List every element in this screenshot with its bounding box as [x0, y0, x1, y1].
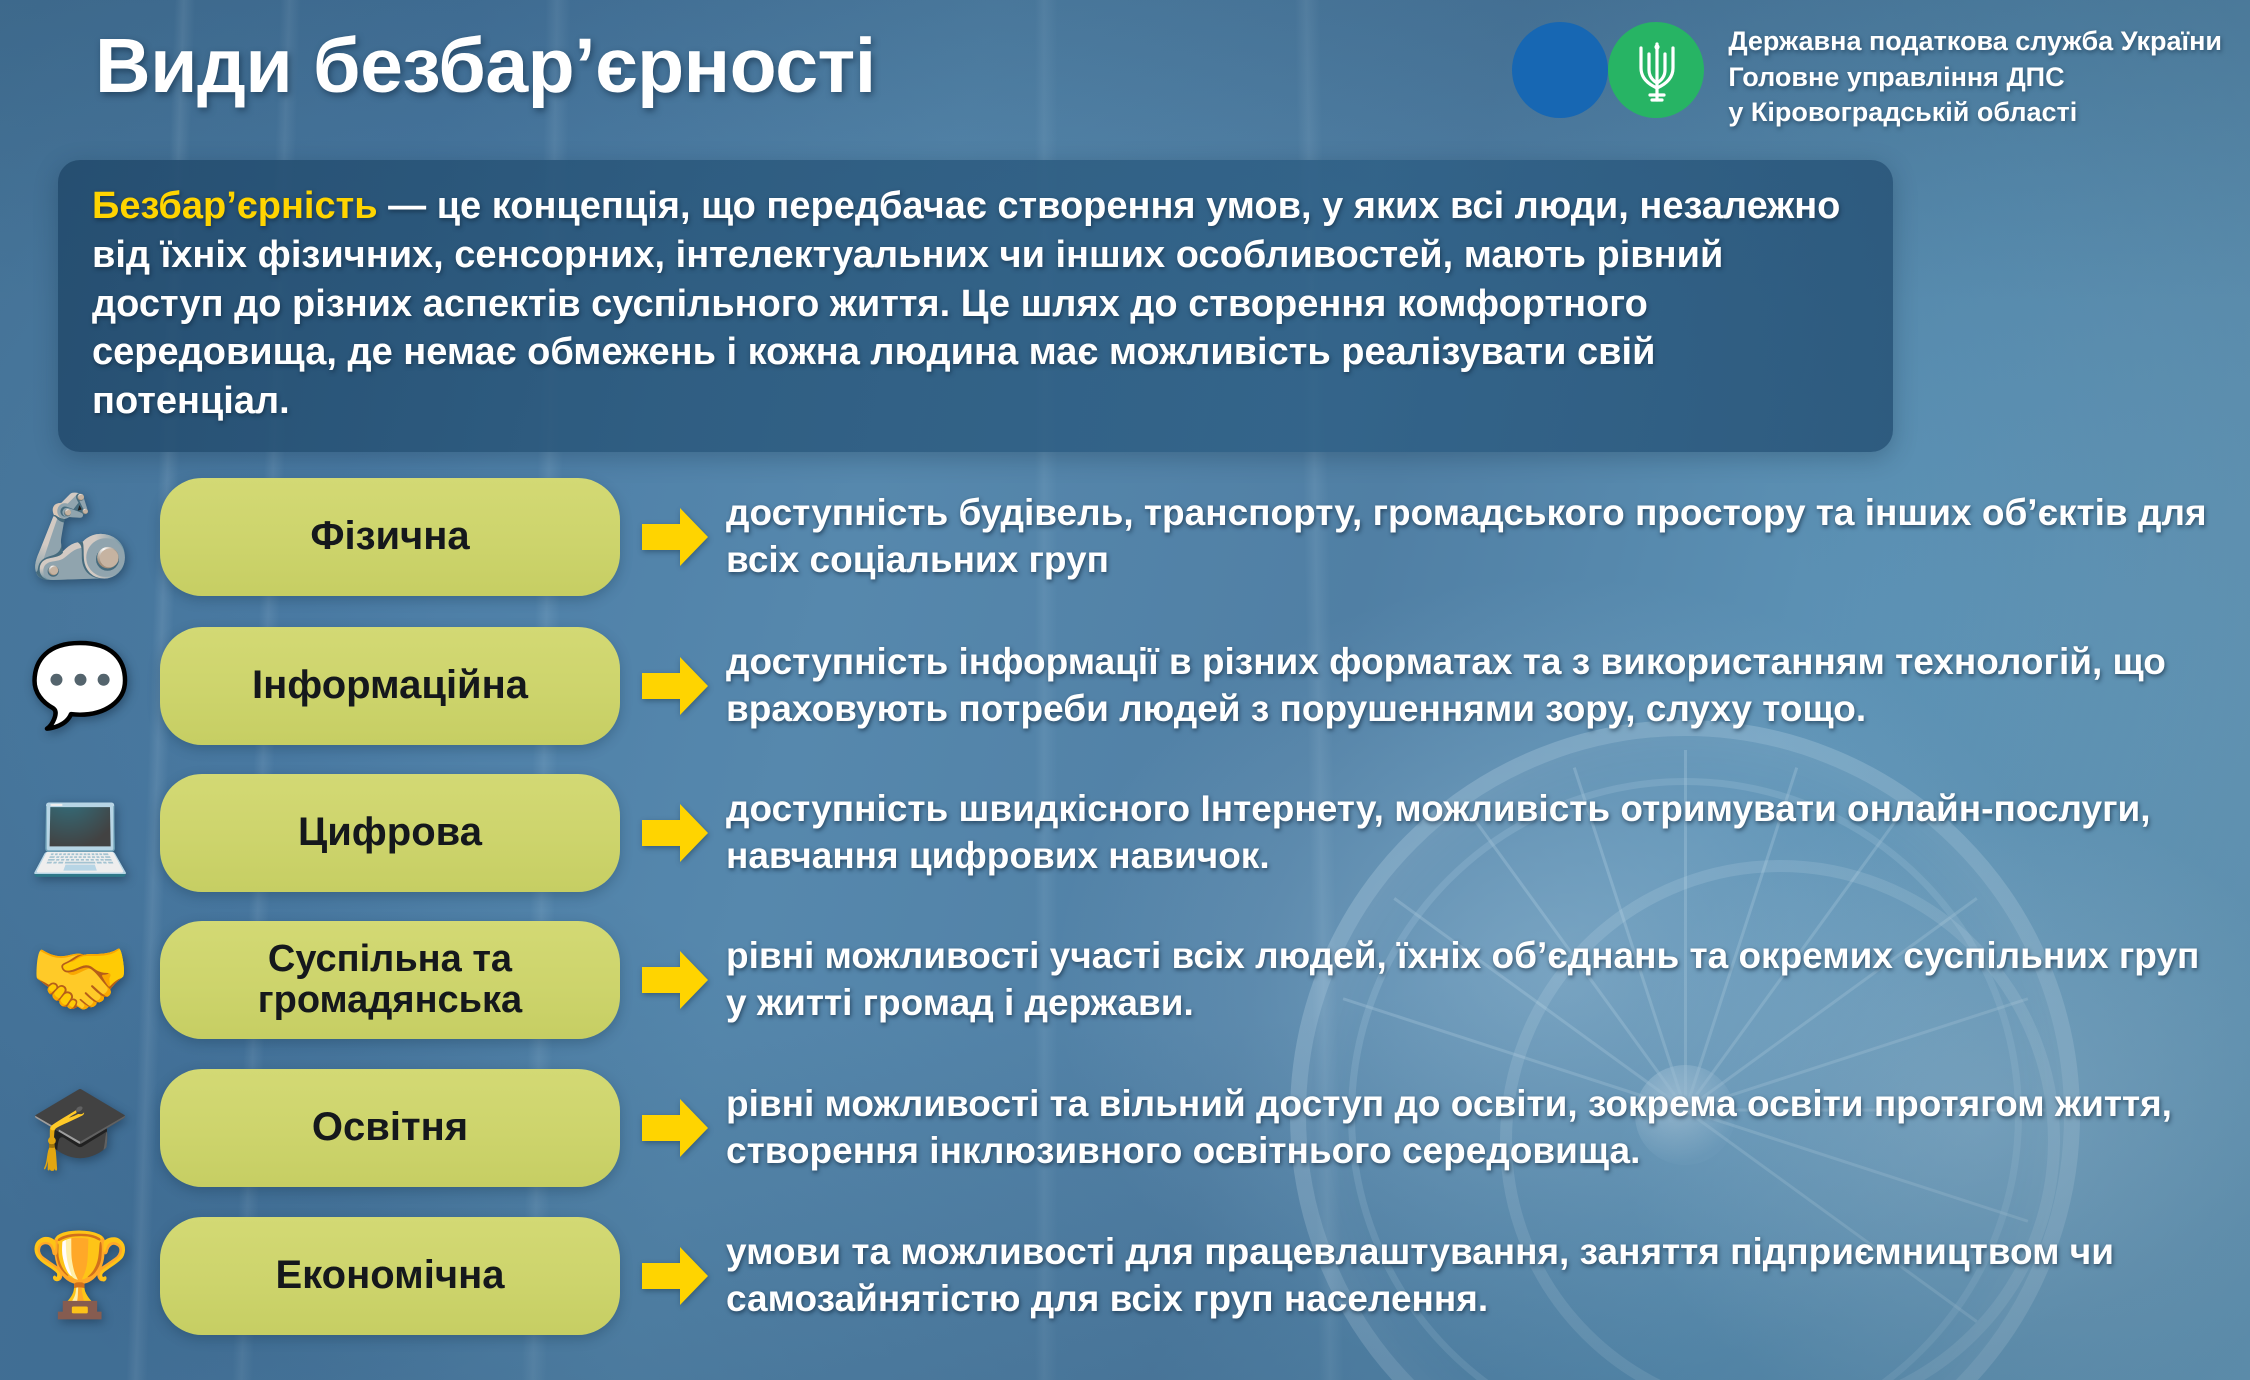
list-item: 🦾 Фізична доступність будівель, транспор…: [0, 462, 2250, 612]
page-title: Види безбар’єрності: [95, 22, 876, 111]
arrow-right-icon: [636, 1083, 714, 1173]
category-pill-label: Суспільна та громадянська: [160, 939, 620, 1021]
category-pill-informatsiyna[interactable]: Інформаційна: [160, 627, 620, 745]
brand-line-3: у Кіровоградській області: [1728, 95, 2222, 131]
category-description: рівні можливості участі всіх людей, їхні…: [726, 933, 2250, 1027]
brand-text: Державна податкова служба України Головн…: [1728, 14, 2222, 131]
list-item: 💬 Інформаційна доступність інформації в …: [0, 612, 2250, 760]
brand-block: Державна податкова служба України Головн…: [1500, 14, 2222, 131]
intro-text: Безбар’єрність — це концепція, що передб…: [92, 182, 1859, 426]
category-pill-ekonomichna[interactable]: Економічна: [160, 1217, 620, 1335]
arrow-right-icon: [636, 641, 714, 731]
intro-panel: Безбар’єрність — це концепція, що передб…: [58, 160, 1893, 452]
list-item: 🤝 Суспільна та громадянська рівні можлив…: [0, 906, 2250, 1054]
category-pill-osvitnya[interactable]: Освітня: [160, 1069, 620, 1187]
brand-line-1: Державна податкова служба України: [1728, 24, 2222, 60]
category-description: рівні можливості та вільний доступ до ос…: [726, 1081, 2250, 1175]
category-pill-label: Інформаційна: [238, 664, 542, 707]
category-list: 🦾 Фізична доступність будівель, транспор…: [0, 462, 2250, 1350]
category-description: доступність інформації в різних форматах…: [726, 639, 2250, 733]
arrow-right-icon: [636, 1231, 714, 1321]
category-pill-label: Освітня: [298, 1106, 482, 1149]
speech-balloon-icon: 💬: [0, 613, 160, 759]
category-pill-suspilna-ta-hromadyanska[interactable]: Суспільна та громадянська: [160, 921, 620, 1039]
list-item: 🎓 Освітня рівні можливості та вільний до…: [0, 1054, 2250, 1202]
header: Види безбар’єрності Державна податкова с…: [0, 0, 2250, 160]
intro-term: Безбар’єрність: [92, 185, 378, 227]
category-description: доступність швидкісного Інтернету, можли…: [726, 786, 2250, 880]
logo-blue-circle-icon: [1512, 22, 1608, 118]
ukraine-trident-icon: [1631, 38, 1683, 106]
category-description: умови та можливості для працевлаштування…: [726, 1229, 2250, 1323]
list-item: 🏆 Економічна умови та можливості для пра…: [0, 1202, 2250, 1350]
laptop-icon: 💻: [0, 760, 160, 906]
category-pill-label: Фізична: [296, 515, 483, 558]
category-description: доступність будівель, транспорту, громад…: [726, 490, 2250, 584]
list-item: 💻 Цифрова доступність швидкісного Інтерн…: [0, 760, 2250, 906]
category-pill-label: Економічна: [261, 1254, 518, 1297]
trophy-icon: 🏆: [0, 1203, 160, 1349]
brand-line-2: Головне управління ДПС: [1728, 60, 2222, 96]
dps-logo: [1500, 14, 1728, 124]
arrow-right-icon: [636, 788, 714, 878]
mechanical-arm-icon: 🦾: [0, 464, 160, 610]
category-pill-tsyfrova[interactable]: Цифрова: [160, 774, 620, 892]
handshake-icon: 🤝: [0, 907, 160, 1053]
arrow-right-icon: [636, 492, 714, 582]
arrow-right-icon: [636, 935, 714, 1025]
category-pill-fizychna[interactable]: Фізична: [160, 478, 620, 596]
graduation-cap-icon: 🎓: [0, 1055, 160, 1201]
category-pill-label: Цифрова: [284, 811, 496, 854]
